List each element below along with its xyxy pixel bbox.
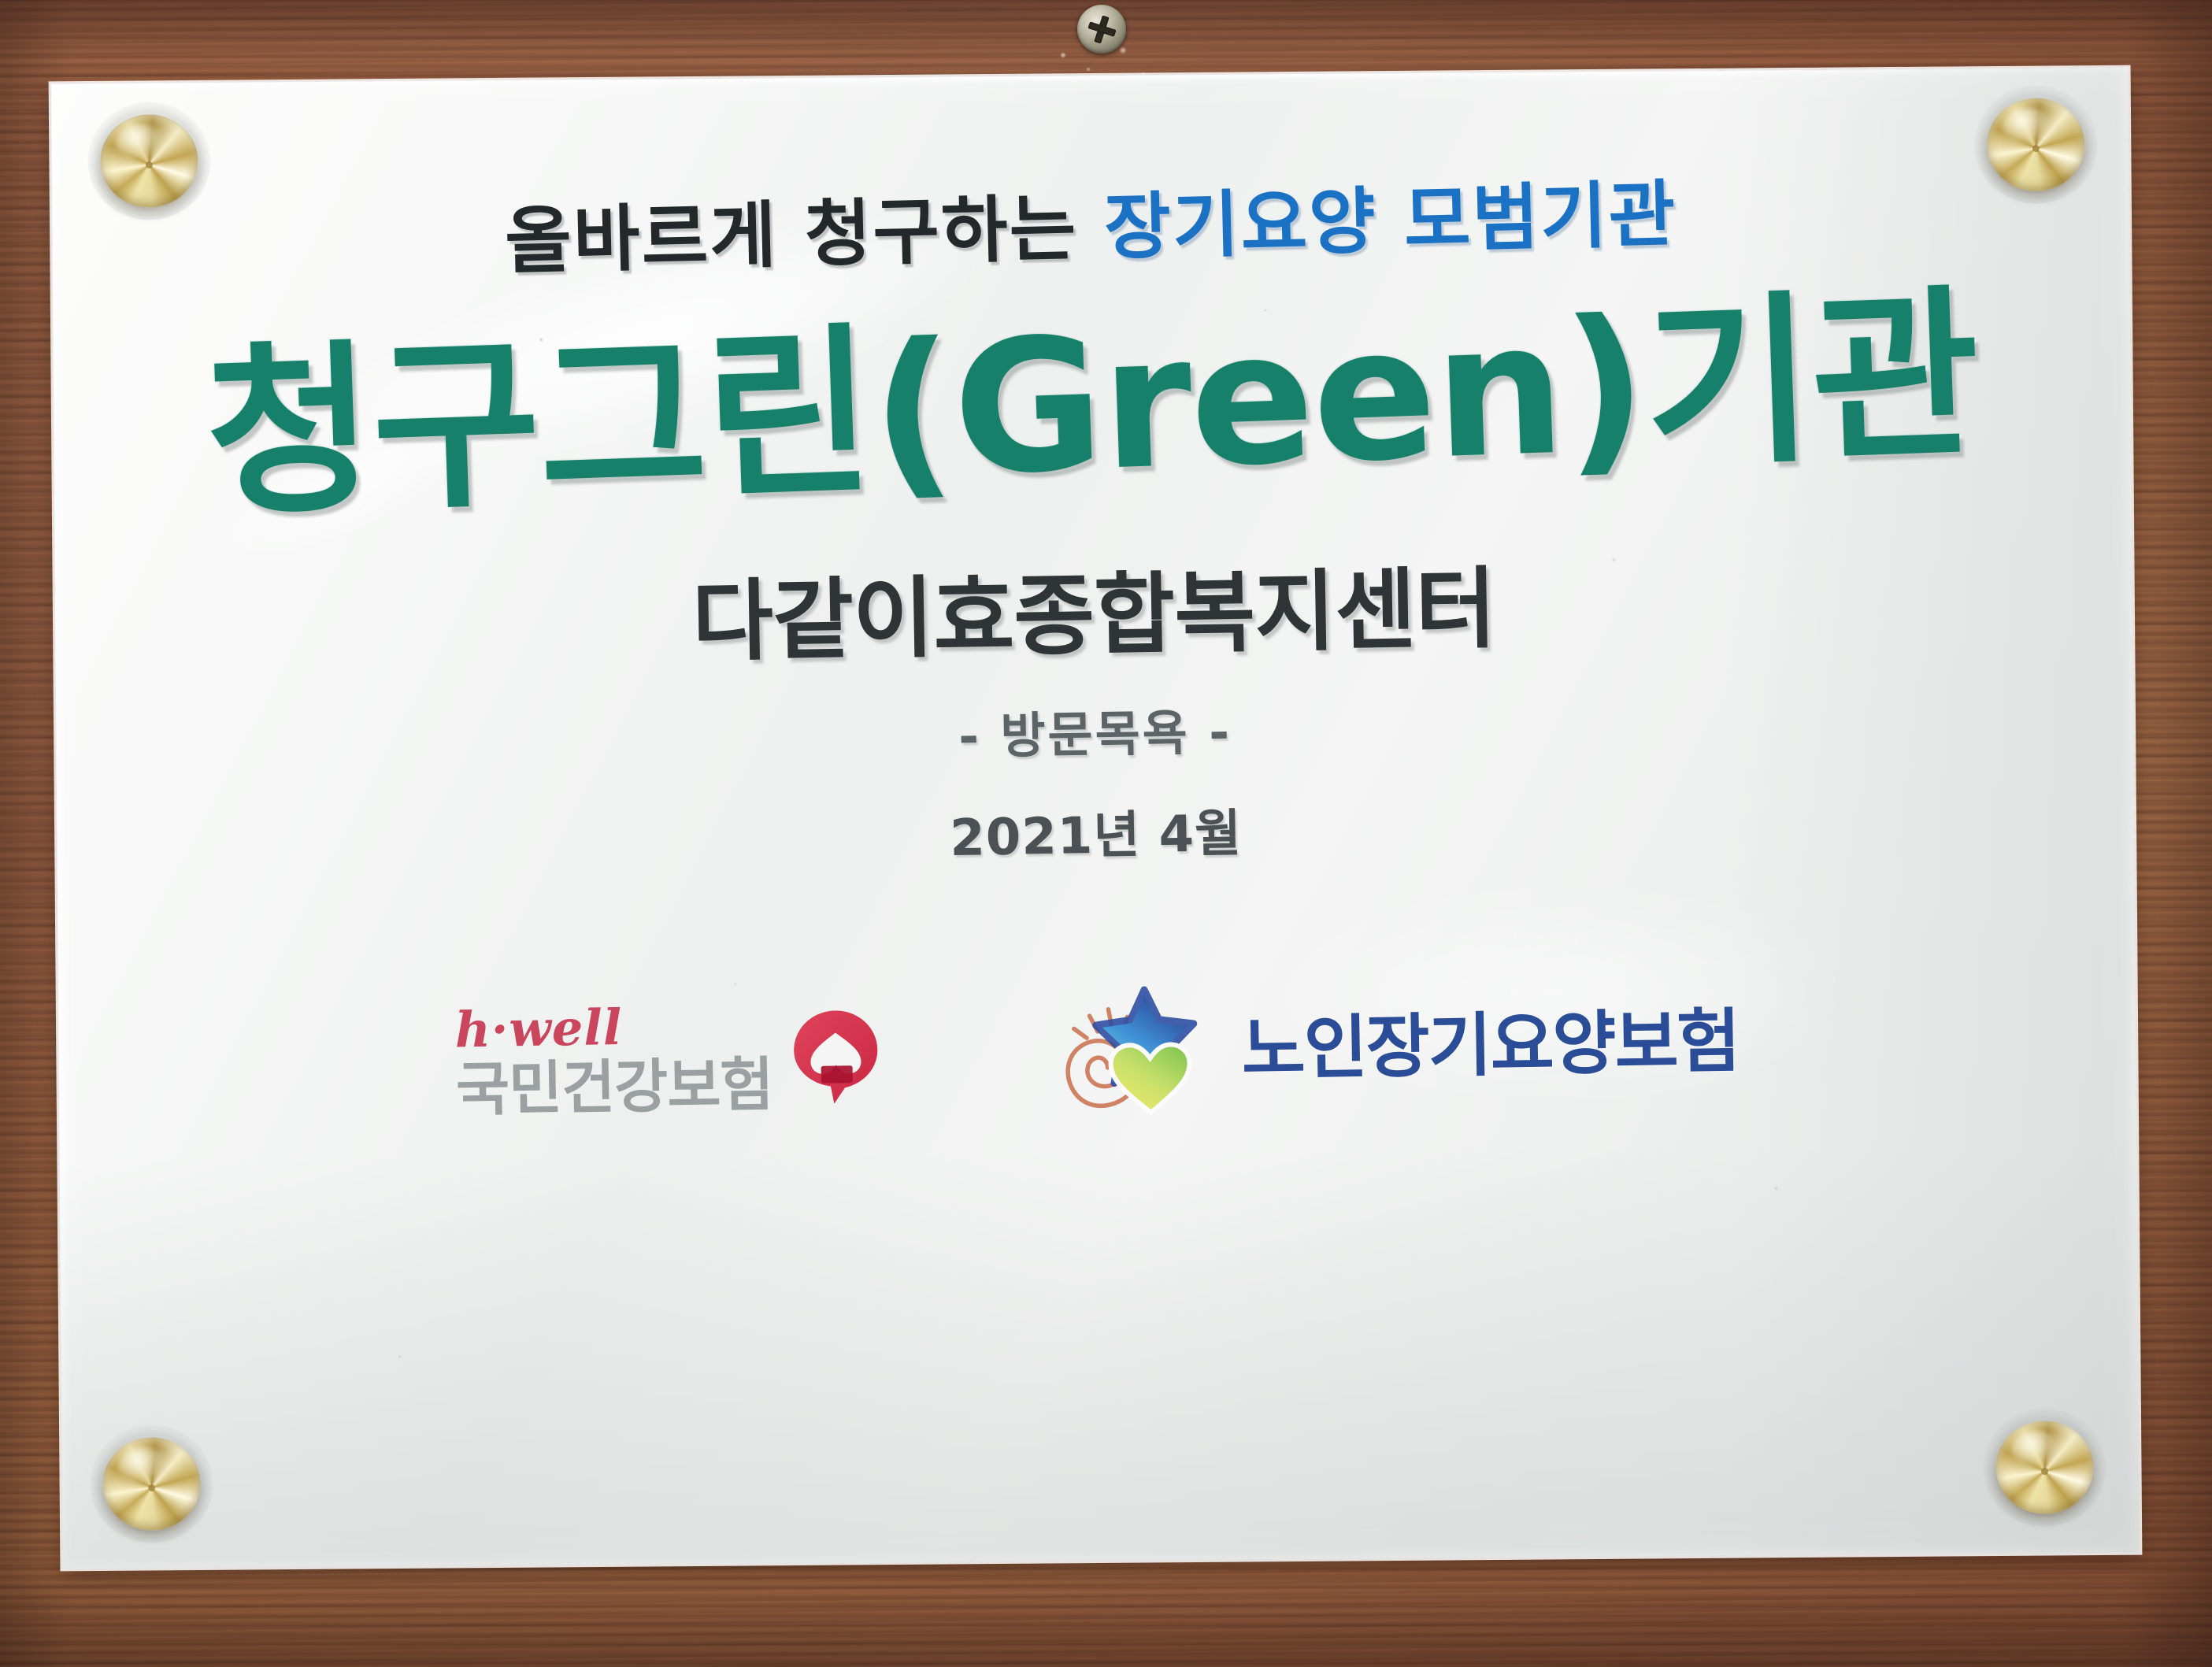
logo-nhis: h·well 국민건강보험 (454, 999, 884, 1120)
nhis-wordmark: h·well 국민건강보험 (454, 1001, 773, 1120)
phillips-screw-icon (1077, 5, 1126, 54)
heart-speech-bubble-icon (789, 1007, 884, 1106)
ltci-korean-text: 노인장기요양보험 (1241, 1006, 1740, 1084)
cap-highlight (2011, 1430, 2060, 1468)
plate-content: 올바르게 청구하는 장기요양 모범기관 청구그린(Green)기관 다같이효종합… (51, 68, 2140, 1569)
corner-screw-cap-top-right (1987, 98, 2085, 191)
corner-screw-cap-top-left (100, 114, 198, 208)
cap-highlight (118, 1447, 167, 1484)
award-plaque: 올바르게 청구하는 장기요양 모범기관 청구그린(Green)기관 다같이효종합… (0, 0, 2212, 1667)
corner-screw-cap-bottom-right (1995, 1421, 2094, 1514)
issue-date: 2021년 4월 (949, 793, 1242, 870)
service-type-label: - 방문목욕 - (958, 692, 1232, 768)
logo-ltci: 노인장기요양보험 (1062, 975, 1740, 1118)
nhis-korean-text: 국민건강보험 (455, 1056, 773, 1120)
star-heart-spiral-icon (1062, 984, 1222, 1118)
headline-black-text: 올바르게 청구하는 (504, 192, 1078, 278)
organization-name: 다같이효종합복지센터 (691, 565, 1496, 667)
main-title: 청구그린(Green)기관 (203, 283, 1981, 526)
corner-screw-cap-bottom-left (102, 1437, 201, 1531)
cap-highlight (2003, 107, 2051, 145)
acrylic-certificate-plate: 올바르게 청구하는 장기요양 모범기관 청구그린(Green)기관 다같이효종합… (51, 68, 2140, 1569)
headline-blue-text: 장기요양 모범기관 (1103, 179, 1677, 265)
headline: 올바르게 청구하는 장기요양 모범기관 (504, 179, 1677, 279)
logo-row: h·well 국민건강보험 (454, 975, 1740, 1128)
nhis-hwell-text: h·well (454, 1003, 623, 1055)
cap-highlight (116, 124, 165, 161)
